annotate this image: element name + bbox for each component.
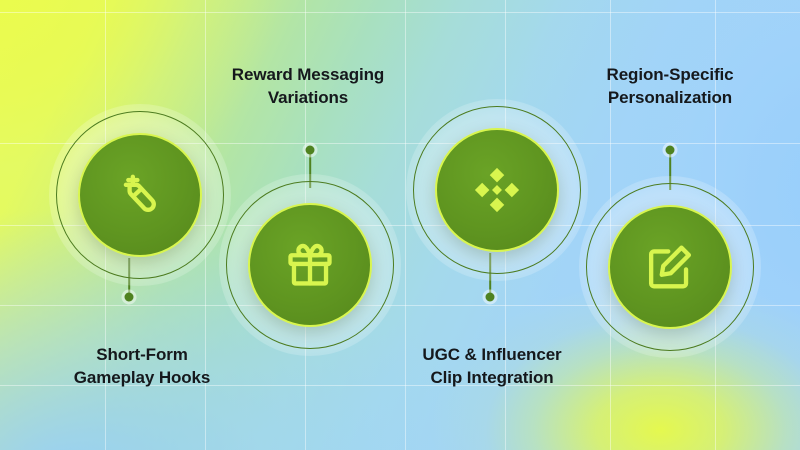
label-ugc-influencer-clip-integration: UGC & Influencer Clip Integration	[422, 344, 561, 389]
connector-dot-reward-messaging-variations	[306, 146, 315, 155]
node-disc-short-form-gameplay-hooks[interactable]	[78, 133, 202, 257]
infographic-canvas: Short-Form Gameplay HooksReward Messagin…	[0, 0, 800, 450]
grid-line-horizontal-0	[0, 12, 800, 13]
connector-dot-short-form-gameplay-hooks	[125, 293, 134, 302]
node-reward-messaging-variations[interactable]	[226, 181, 394, 349]
node-disc-region-specific-personalization[interactable]	[608, 205, 732, 329]
grid-line-vertical-3	[405, 0, 406, 450]
gift-icon	[284, 239, 336, 291]
node-disc-reward-messaging-variations[interactable]	[248, 203, 372, 327]
node-ugc-influencer-clip-integration[interactable]	[413, 106, 581, 274]
label-short-form-gameplay-hooks: Short-Form Gameplay Hooks	[74, 344, 211, 389]
node-short-form-gameplay-hooks[interactable]	[56, 111, 224, 279]
connector-dot-region-specific-personalization	[666, 146, 675, 155]
gamepad-icon	[114, 169, 166, 221]
node-disc-ugc-influencer-clip-integration[interactable]	[435, 128, 559, 252]
label-reward-messaging-variations: Reward Messaging Variations	[232, 64, 384, 109]
connector-dot-ugc-influencer-clip-integration	[486, 293, 495, 302]
network-diamond-icon	[471, 164, 523, 216]
label-region-specific-personalization: Region-Specific Personalization	[607, 64, 734, 109]
edit-square-icon	[644, 241, 696, 293]
node-region-specific-personalization[interactable]	[586, 183, 754, 351]
